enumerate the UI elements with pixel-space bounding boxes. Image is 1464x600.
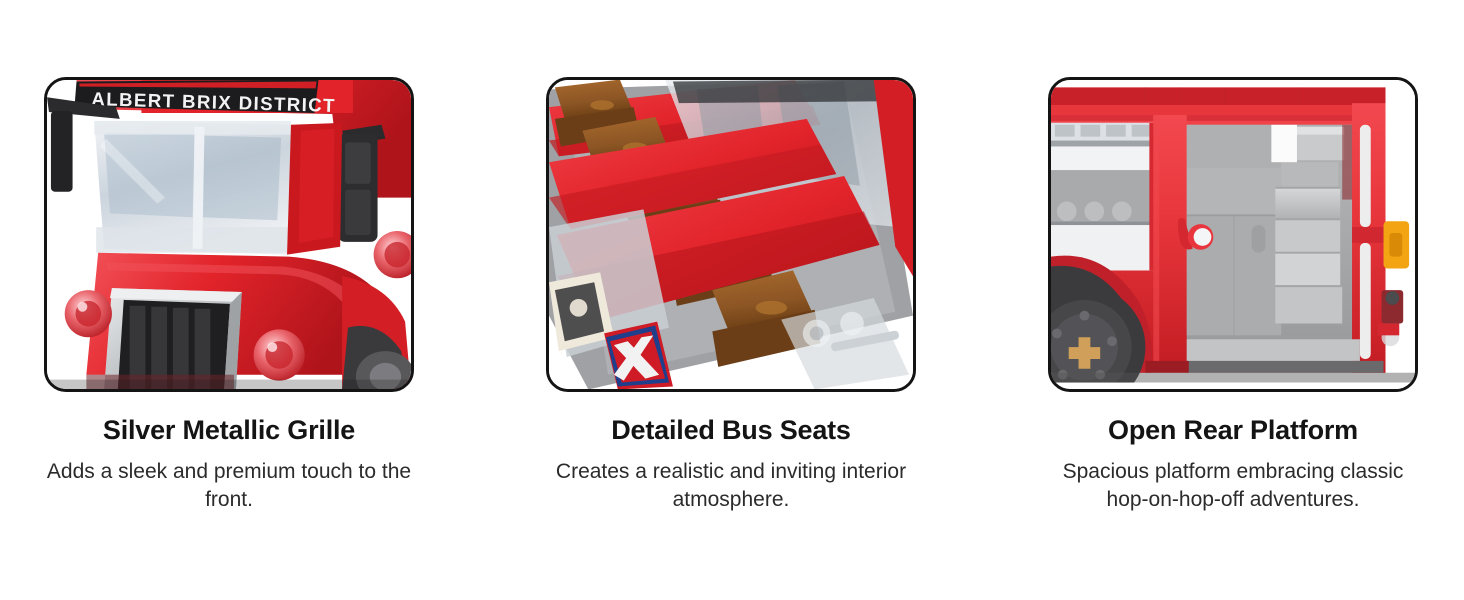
bus-front-grille-illustration: ALBERT BRIX DISTRICT	[47, 80, 411, 389]
side-mirror	[51, 111, 73, 192]
feature-title-detailed-bus-seats: Detailed Bus Seats	[611, 414, 851, 446]
feature-image-silver-metallic-grille: ALBERT BRIX DISTRICT	[44, 77, 414, 392]
door-handle	[1252, 225, 1266, 253]
silver-metallic-grille	[104, 288, 242, 389]
indicator-light	[1384, 221, 1410, 268]
feature-image-detailed-bus-seats	[546, 77, 916, 392]
feature-image-open-rear-platform	[1048, 77, 1418, 392]
feature-card-silver-metallic-grille: ALBERT BRIX DISTRICT	[44, 77, 414, 514]
bus-interior-seats-illustration	[549, 80, 913, 389]
feature-card-open-rear-platform: Open Rear Platform Spacious platform emb…	[1048, 77, 1418, 514]
feature-grid: ALBERT BRIX DISTRICT	[0, 0, 1464, 600]
bus-rear-platform-illustration	[1051, 80, 1415, 389]
feature-description-silver-metallic-grille: Adds a sleek and premium touch to the fr…	[44, 458, 414, 513]
feature-title-open-rear-platform: Open Rear Platform	[1108, 414, 1358, 446]
grab-pole-upper	[1360, 125, 1371, 227]
feature-card-detailed-bus-seats: Detailed Bus Seats Creates a realistic a…	[546, 77, 916, 514]
side-window	[1051, 123, 1153, 271]
windshield-glass	[94, 121, 291, 255]
feature-description-detailed-bus-seats: Creates a realistic and inviting interio…	[546, 458, 916, 513]
headlight-right	[254, 329, 305, 380]
headlight-left	[65, 290, 112, 337]
grab-pole-lower	[1360, 243, 1371, 359]
feature-description-open-rear-platform: Spacious platform embracing classic hop-…	[1048, 458, 1418, 513]
feature-title-silver-metallic-grille: Silver Metallic Grille	[103, 414, 355, 446]
